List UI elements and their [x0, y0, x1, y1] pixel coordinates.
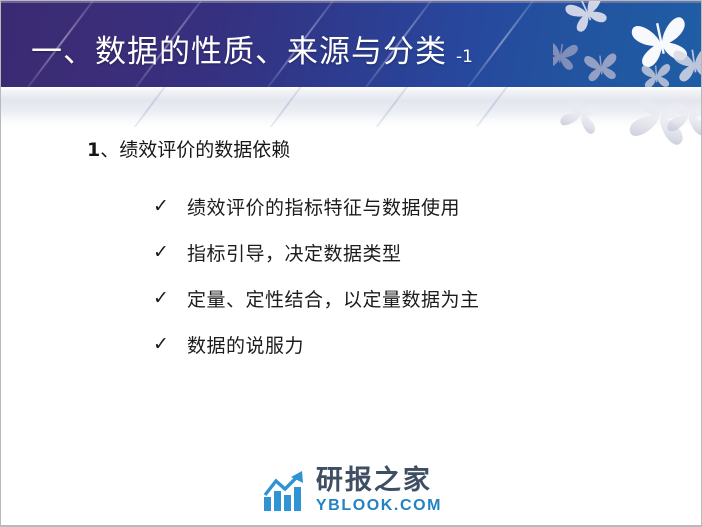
lead-heading-text: 、绩效评价的数据依赖	[100, 139, 290, 161]
checkmark-icon: ✓	[153, 289, 187, 308]
list-item-label: 定量、定性结合，以定量数据为主	[187, 285, 480, 312]
checkmark-icon: ✓	[153, 335, 187, 354]
butterfly-decoration-group	[553, 1, 702, 87]
bar-chart-arrow-icon	[262, 469, 308, 513]
checkmark-icon: ✓	[153, 197, 187, 216]
header-streak-decoration	[124, 87, 180, 127]
list-item: ✓ 定量、定性结合，以定量数据为主	[153, 275, 673, 321]
header-streak-decoration	[366, 87, 422, 127]
watermark-brand-cn: 研报之家	[316, 467, 442, 494]
list-item: ✓ 绩效评价的指标特征与数据使用	[153, 183, 673, 229]
slide-header-band: 一、数据的性质、来源与分类 -1	[1, 1, 702, 87]
slide-title: 一、数据的性质、来源与分类 -1	[31, 26, 473, 71]
list-item-label: 指标引导，决定数据类型	[187, 239, 402, 266]
list-item-label: 数据的说服力	[187, 331, 304, 358]
checkmark-icon: ✓	[153, 243, 187, 262]
list-item-label: 绩效评价的指标特征与数据使用	[187, 193, 460, 220]
header-streak-decoration	[466, 87, 522, 127]
list-item: ✓ 数据的说服力	[153, 321, 673, 367]
header-fade-strip	[1, 87, 702, 127]
lead-heading-number: 1	[87, 139, 100, 161]
header-top-highlight	[1, 1, 702, 3]
list-item: ✓ 指标引导，决定数据类型	[153, 229, 673, 275]
butterfly-icon	[553, 1, 702, 87]
lead-heading: 1、绩效评价的数据依赖	[87, 135, 290, 162]
watermark-brand-en: YBLOOK.COM	[316, 498, 442, 514]
slide-title-suffix: -1	[456, 47, 473, 67]
bullet-list: ✓ 绩效评价的指标特征与数据使用 ✓ 指标引导，决定数据类型 ✓ 定量、定性结合…	[153, 183, 673, 367]
header-streak-decoration	[260, 87, 316, 127]
slide-bottom-rule	[1, 525, 702, 526]
watermark-logo: 研报之家 YBLOOK.COM	[1, 467, 702, 514]
slide-title-text: 一、数据的性质、来源与分类	[31, 26, 447, 71]
slide-canvas: 一、数据的性质、来源与分类 -1	[0, 0, 702, 527]
